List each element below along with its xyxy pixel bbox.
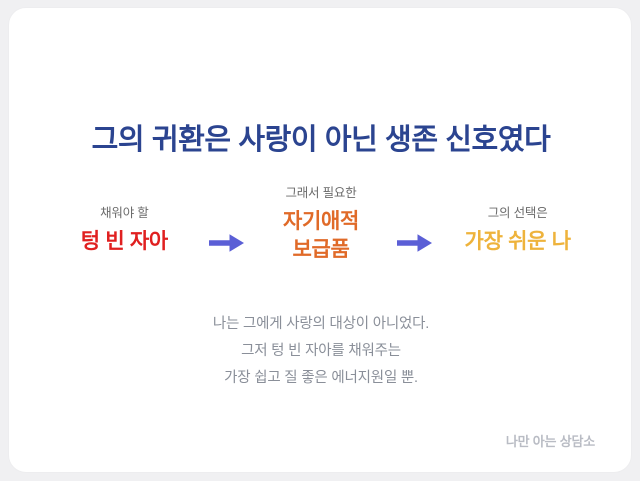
flow-step-1-caption: 채워야 할	[100, 206, 148, 221]
flow-step-1-keyword: 텅 빈 자아	[81, 228, 168, 256]
body-line-2: 그저 텅 빈 자아를 채워주는	[9, 338, 632, 365]
flow-step-2-keyword: 자기애적 보급품	[283, 208, 359, 264]
page-title: 그의 귀환은 사랑이 아닌 생존 신호였다	[9, 116, 632, 158]
flow-step-3-caption: 그의 선택은	[488, 206, 548, 221]
flow-step-3: 그의 선택은 가장 쉬운 나	[442, 186, 593, 256]
content-card: 그의 귀환은 사랑이 아닌 생존 신호였다 채워야 할 텅 빈 자아 그래서 필…	[8, 7, 632, 473]
flow-step-2-caption: 그래서 필요한	[285, 186, 356, 201]
flow-arrow-1	[200, 186, 254, 254]
flow-step-1-keyword-line-1: 텅 빈 자아	[81, 228, 168, 256]
concept-flow-diagram: 채워야 할 텅 빈 자아 그래서 필요한 자기애적 보급품	[49, 186, 593, 264]
flow-step-3-keyword-line-1: 가장 쉬운 나	[465, 228, 571, 256]
body-line-1: 나는 그에게 사랑의 대상이 아니었다.	[9, 311, 632, 338]
arrow-right-icon	[397, 232, 433, 254]
footer-signature: 나만 아는 상담소	[506, 431, 595, 450]
body-line-3: 가장 쉽고 질 좋은 에너지원일 뿐.	[9, 365, 632, 392]
flow-step-2: 그래서 필요한 자기애적 보급품	[254, 186, 389, 264]
flow-step-3-keyword: 가장 쉬운 나	[465, 228, 571, 256]
flow-step-2-keyword-line-2: 보급품	[283, 236, 359, 264]
body-paragraph: 나는 그에게 사랑의 대상이 아니었다. 그저 텅 빈 자아를 채워주는 가장 …	[9, 311, 632, 391]
arrow-right-icon	[209, 232, 245, 254]
flow-arrow-2	[388, 186, 442, 254]
flow-step-1: 채워야 할 텅 빈 자아	[49, 186, 200, 256]
flow-step-2-keyword-line-1: 자기애적	[283, 208, 359, 236]
